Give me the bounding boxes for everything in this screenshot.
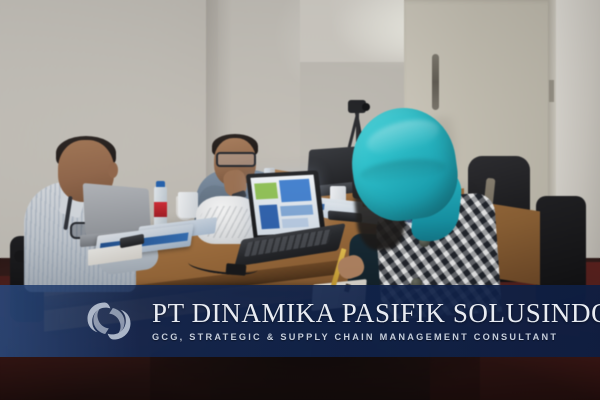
door-handle (432, 54, 439, 110)
screen-bar (280, 205, 313, 217)
brand-text-block: PT DINAMIKA PASIFIK SOLUSINDO GCG, STRAT… (152, 299, 600, 343)
power-adapter (226, 263, 247, 276)
company-tagline: GCG, STRATEGIC & SUPPLY CHAIN MANAGEMENT… (152, 332, 600, 343)
screen-block-blue (279, 179, 312, 202)
company-name: PT DINAMIKA PASIFIK SOLUSINDO (152, 299, 600, 327)
bottle-cap (156, 181, 165, 187)
man-left-ear (108, 162, 118, 178)
eyeglasses-icon (216, 152, 256, 167)
bottle-label (154, 202, 167, 217)
swirl-monogram-icon (82, 296, 136, 346)
laptop-screen-content (250, 175, 320, 236)
camera-lens (362, 103, 370, 111)
screen-block-navy (259, 204, 280, 229)
screen-block-green (254, 183, 278, 200)
screenshot-root: PT DINAMIKA PASIFIK SOLUSINDO GCG, STRAT… (0, 0, 600, 400)
door-latch (549, 80, 554, 102)
screen-bar (282, 218, 309, 228)
brand-banner: PT DINAMIKA PASIFIK SOLUSINDO GCG, STRAT… (0, 285, 600, 357)
paper-cup (178, 192, 198, 218)
